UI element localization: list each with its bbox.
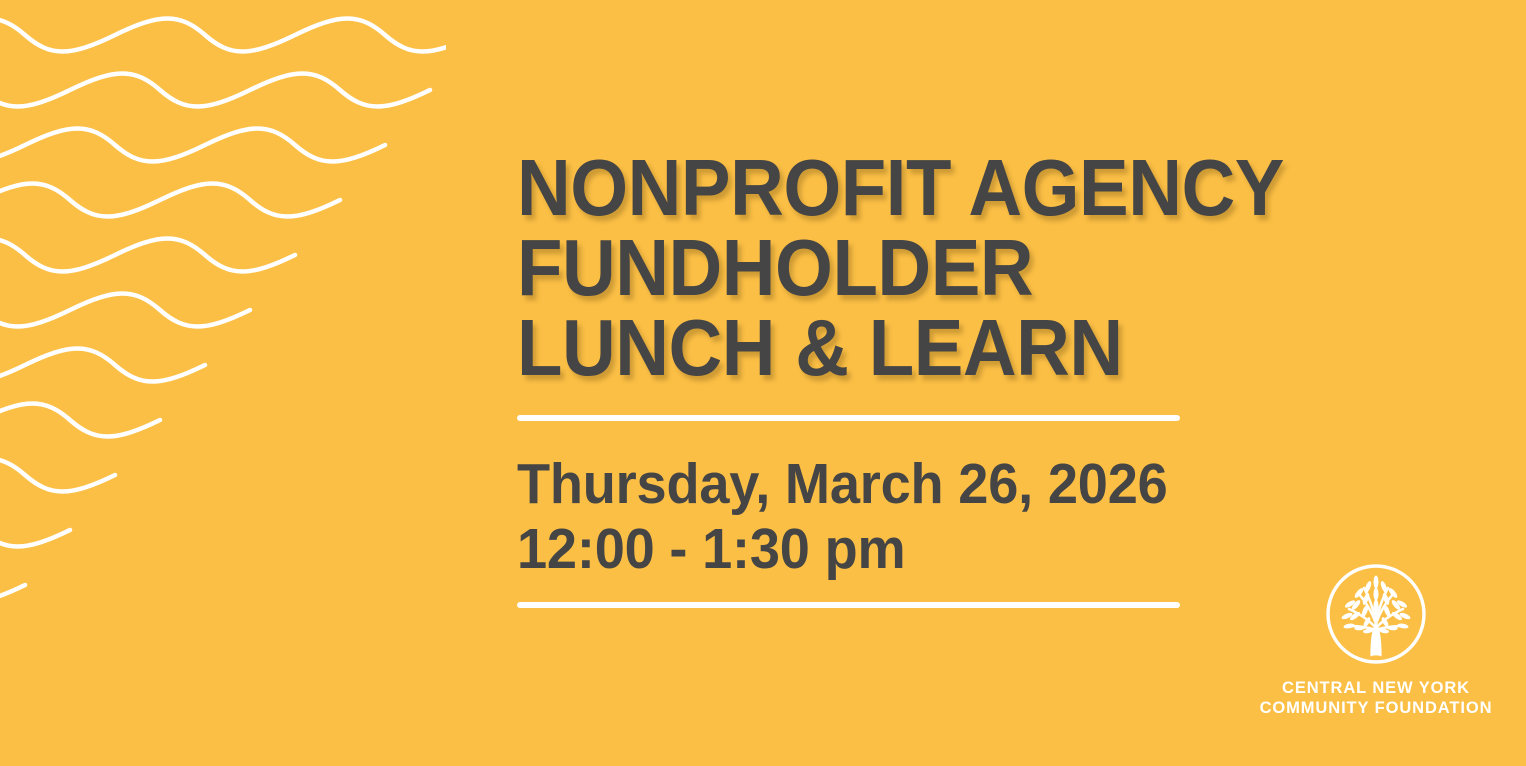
page-title: NONPROFIT AGENCY FUNDHOLDER LUNCH & LEAR… bbox=[517, 148, 1354, 388]
organization-logo: CENTRAL NEW YORK COMMUNITY FOUNDATION bbox=[1238, 560, 1514, 718]
poster-content: NONPROFIT AGENCY FUNDHOLDER LUNCH & LEAR… bbox=[517, 0, 1217, 766]
wave-pattern-band bbox=[0, 0, 446, 766]
logo-wordmark: CENTRAL NEW YORK COMMUNITY FOUNDATION bbox=[1238, 678, 1514, 718]
event-poster: NONPROFIT AGENCY FUNDHOLDER LUNCH & LEAR… bbox=[0, 0, 1526, 766]
event-datetime: Thursday, March 26, 2026 12:00 - 1:30 pm bbox=[517, 452, 1239, 582]
divider-bottom bbox=[517, 602, 1180, 608]
divider-top bbox=[517, 415, 1180, 421]
wave-pattern-icon bbox=[0, 0, 446, 766]
tree-in-circle-icon bbox=[1322, 560, 1430, 668]
